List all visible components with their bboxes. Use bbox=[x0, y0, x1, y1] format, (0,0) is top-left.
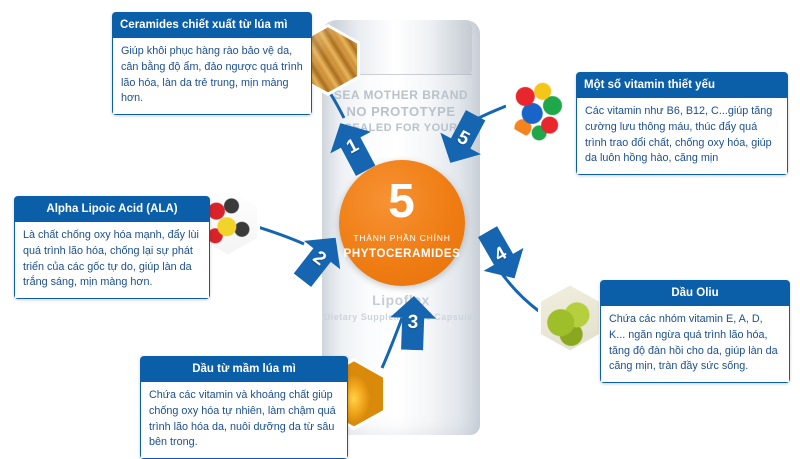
callout-ala[interactable]: Alpha Lipoic Acid (ALA) Là chất chống ox… bbox=[14, 196, 210, 299]
callout-ceramides-title: Ceramides chiết xuất từ lúa mì bbox=[112, 12, 312, 38]
callout-ala-body: Là chất chống oxy hóa mạnh, đẩy lùi quá … bbox=[14, 222, 210, 299]
callout-ceramides-body: Giúp khôi phục hàng rào bảo vệ da, cân b… bbox=[112, 38, 312, 115]
callout-vitamin[interactable]: Một số vitamin thiết yếu Các vitamin như… bbox=[576, 72, 788, 175]
callout-oliu-title: Dầu Oliu bbox=[600, 280, 790, 306]
callout-mam-lua-mi-title: Dầu từ mầm lúa mì bbox=[140, 356, 348, 382]
callout-oliu[interactable]: Dầu Oliu Chứa các nhóm vitamin E, A, D, … bbox=[600, 280, 790, 383]
center-subtitle-1: THÀNH PHẦN CHÍNH bbox=[339, 233, 465, 243]
infographic-canvas: SEA MOTHER BRAND NO PROTOTYPE SEALED FOR… bbox=[0, 0, 800, 448]
arrow-marker-3: 3 bbox=[389, 295, 437, 351]
callout-mam-lua-mi[interactable]: Dầu từ mầm lúa mì Chứa các vitamin và kh… bbox=[140, 356, 348, 459]
center-subtitle-2: PHYTOCERAMIDES bbox=[339, 248, 465, 260]
callout-vitamin-body: Các vitamin như B6, B12, C...giúp tăng c… bbox=[576, 98, 788, 175]
callout-mam-lua-mi-body: Chứa các vitamin và khoáng chất giúp chố… bbox=[140, 382, 348, 459]
callout-vitamin-title: Một số vitamin thiết yếu bbox=[576, 72, 788, 98]
callout-ala-title: Alpha Lipoic Acid (ALA) bbox=[14, 196, 210, 222]
center-summary-circle: 5 THÀNH PHẦN CHÍNH PHYTOCERAMIDES bbox=[339, 160, 465, 286]
arrow-number-3: 3 bbox=[389, 295, 437, 351]
callout-oliu-body: Chứa các nhóm vitamin E, A, D, K... ngăn… bbox=[600, 306, 790, 383]
callout-ceramides[interactable]: Ceramides chiết xuất từ lúa mì Giúp khôi… bbox=[112, 12, 312, 115]
